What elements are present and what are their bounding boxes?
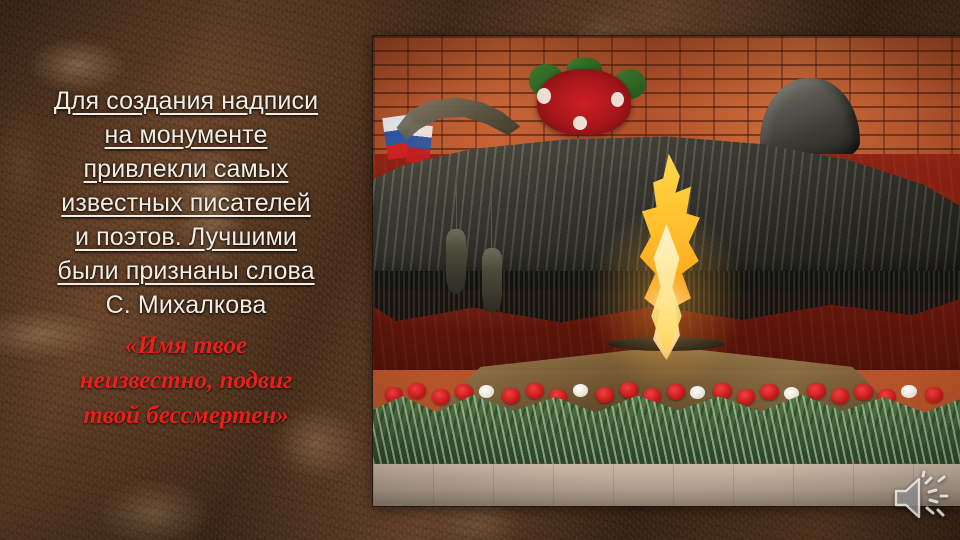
red-carnation: [667, 384, 685, 400]
red-carnation: [432, 389, 450, 405]
text-line-7-author: С. Михалкова: [16, 288, 356, 322]
red-carnation: [807, 383, 825, 399]
text-line-6: были признаны слова: [16, 254, 356, 288]
red-carnation: [760, 384, 778, 400]
text-block: Для создания надписи на монументе привле…: [16, 84, 356, 433]
text-line-2: на монументе: [16, 118, 356, 152]
wreath-white-flower: [573, 116, 587, 130]
red-carnation: [408, 383, 426, 399]
flower-row: [373, 370, 960, 464]
banner-tassel: [446, 229, 466, 295]
quote-line-1: «Имя твое: [16, 328, 356, 363]
white-flower: [690, 386, 705, 398]
text-line-4: известных писателей: [16, 186, 356, 220]
white-flower: [479, 385, 494, 397]
paving-stone: [373, 464, 960, 506]
speaker-icon[interactable]: [890, 470, 952, 526]
quote-block: «Имя твое неизвестно, подвиг твой бессме…: [16, 328, 356, 433]
presentation-slide: Для создания надписи на монументе привле…: [0, 0, 960, 540]
photo-tomb-of-unknown-soldier: [373, 36, 960, 506]
white-flower: [901, 385, 916, 397]
quote-line-2: неизвестно, подвиг: [16, 363, 356, 398]
red-carnation: [596, 387, 614, 403]
text-line-1: Для создания надписи: [16, 84, 356, 118]
text-line-3: привлекли самых: [16, 152, 356, 186]
red-carnation: [737, 389, 755, 405]
red-carnation: [925, 387, 943, 403]
white-flower: [573, 384, 588, 396]
wreath-white-flower: [611, 92, 624, 107]
banner-tassel: [482, 248, 502, 314]
red-carnation: [526, 383, 544, 399]
red-carnation: [502, 388, 520, 404]
tassel-cord: [456, 168, 457, 234]
red-carnation: [831, 388, 849, 404]
red-carnation: [620, 382, 638, 398]
text-line-5: и поэтов. Лучшими: [16, 220, 356, 254]
red-carnation: [713, 383, 731, 399]
red-carnation: [854, 384, 872, 400]
quote-line-3: твой бессмертен»: [16, 398, 356, 433]
tassel-cord: [491, 177, 492, 252]
